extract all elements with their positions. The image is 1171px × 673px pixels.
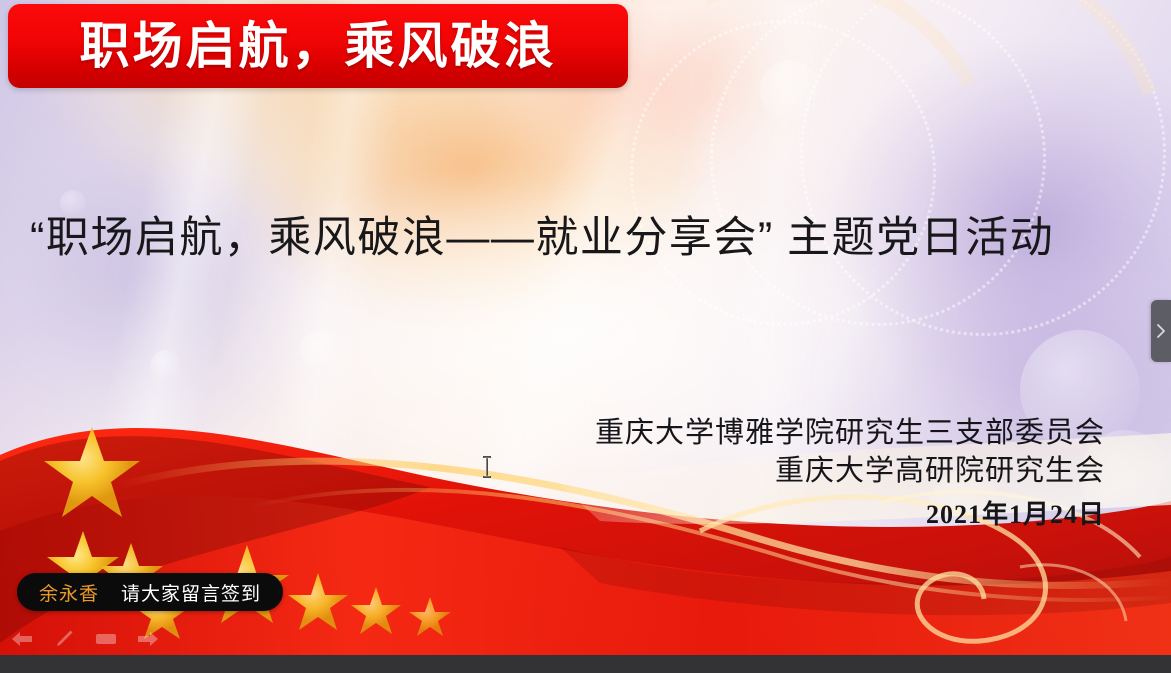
eraser-icon[interactable]: [94, 628, 118, 650]
pencil-icon[interactable]: [52, 628, 76, 650]
attribution-date: 2021年1月24日: [595, 494, 1105, 536]
slide-title: “职场启航，乘风破浪——就业分享会” 主题党日活动: [30, 214, 1140, 263]
attribution-line-2: 重庆大学高研院研究生会: [595, 452, 1105, 490]
attribution-line-1: 重庆大学博雅学院研究生三支部委员会: [595, 414, 1105, 452]
slide-attribution: 重庆大学博雅学院研究生三支部委员会 重庆大学高研院研究生会 2021年1月24日: [595, 414, 1105, 536]
back-arrow-icon[interactable]: [10, 628, 34, 650]
chevron-right-icon: [1156, 323, 1166, 339]
slide-banner-text: 职场启航，乘风破浪: [80, 21, 557, 71]
annotation-toolbar[interactable]: [10, 628, 160, 650]
chat-sender-name: 余永香: [39, 579, 99, 606]
panel-expand-handle[interactable]: [1151, 300, 1171, 362]
chat-message-bubble[interactable]: 余永香 请大家留言签到: [17, 573, 283, 611]
slide-canvas[interactable]: 职场启航，乘风破浪 “职场启航，乘风破浪——就业分享会” 主题党日活动 重庆大学…: [0, 0, 1171, 655]
bottom-status-bar: [0, 655, 1171, 673]
chat-message-text: 请大家留言签到: [121, 579, 261, 606]
slide-banner: 职场启航，乘风破浪: [8, 4, 628, 88]
presentation-viewer: 职场启航，乘风破浪 “职场启航，乘风破浪——就业分享会” 主题党日活动 重庆大学…: [0, 0, 1171, 673]
forward-arrow-icon[interactable]: [136, 628, 160, 650]
